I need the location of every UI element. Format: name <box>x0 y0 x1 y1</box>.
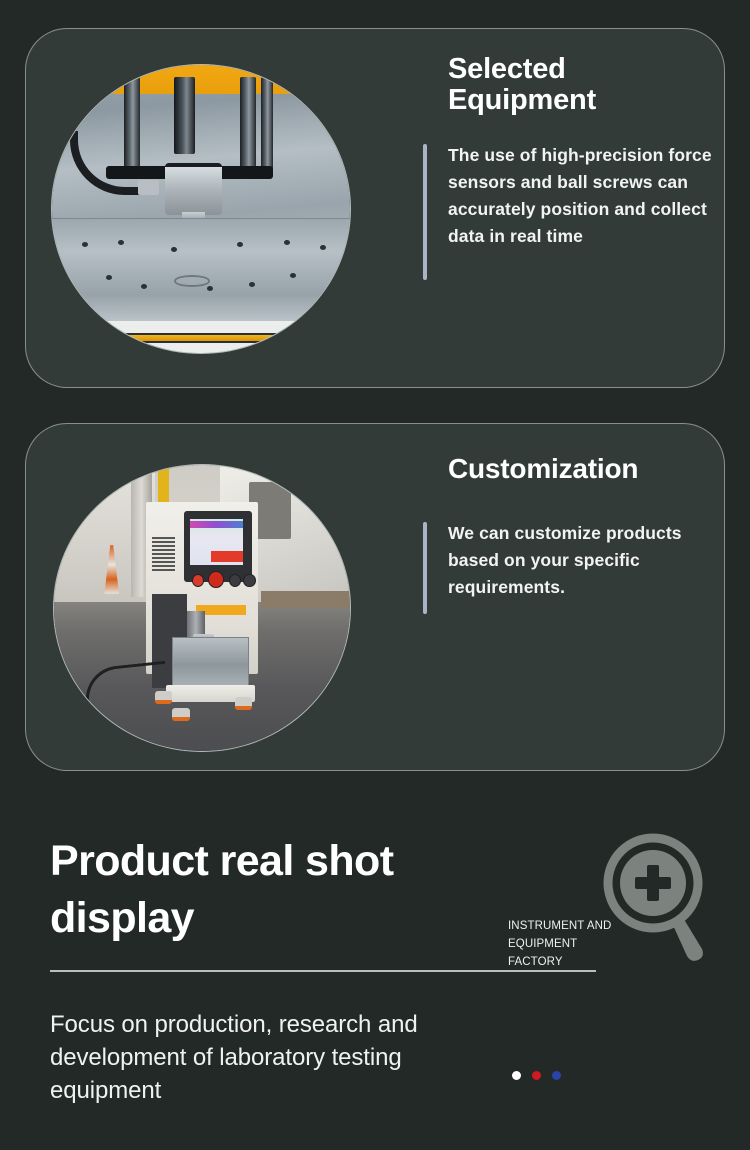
press-hose <box>70 131 147 194</box>
accent-bar <box>423 144 427 280</box>
card-body-text: We can customize products based on your … <box>448 520 723 601</box>
panel-button-red <box>192 574 204 587</box>
card-body-wrap: The use of high-precision force sensors … <box>423 142 713 251</box>
card-body-wrap: We can customize products based on your … <box>423 520 723 601</box>
press-column <box>261 77 273 175</box>
page-root: Selected Equipment The use of high-preci… <box>0 0 750 1150</box>
carousel-dot-1[interactable] <box>512 1071 521 1080</box>
divider <box>50 970 596 972</box>
pallet <box>261 591 350 608</box>
factory-logo: INSTRUMENT AND EQUIPMENT FACTORY <box>498 824 728 974</box>
card-image-press-machine <box>51 64 351 354</box>
press-column <box>240 77 256 175</box>
logo-caption: INSTRUMENT AND EQUIPMENT FACTORY <box>508 918 611 971</box>
card-text-block: Selected Equipment The use of high-preci… <box>423 54 713 251</box>
machine-vent <box>152 537 176 571</box>
touchscreen-title-bar <box>190 521 243 528</box>
press-column <box>174 77 195 155</box>
test-fixture <box>172 637 249 688</box>
leveling-foot <box>235 697 253 710</box>
bottom-section: Product real shot display INSTRUMENT AND… <box>0 800 750 1150</box>
press-machine-photo <box>52 65 350 353</box>
press-table <box>52 218 350 327</box>
magnifier-plus-icon <box>596 833 716 963</box>
carousel-dots[interactable] <box>512 1071 561 1080</box>
carousel-dot-2[interactable] <box>532 1071 541 1080</box>
press-base-strip <box>100 333 285 343</box>
card-title: Customization <box>423 454 723 484</box>
card-text-block: Customization We can customize products … <box>423 454 723 601</box>
card-inner: Selected Equipment The use of high-preci… <box>26 29 724 387</box>
card-title: Selected Equipment <box>423 54 713 116</box>
press-bore <box>174 275 210 287</box>
press-hose-connector <box>138 180 159 194</box>
feature-card-selected-equipment[interactable]: Selected Equipment The use of high-preci… <box>25 28 725 388</box>
card-image-control-panel <box>53 464 351 752</box>
press-cylinder <box>165 163 222 215</box>
panel-knob-down <box>243 574 255 587</box>
section-subtitle: Focus on production, research and develo… <box>50 1008 490 1107</box>
factory-floor-photo <box>54 465 350 751</box>
leveling-foot <box>172 708 190 721</box>
panel-knob-up <box>229 574 241 587</box>
carousel-dot-3[interactable] <box>552 1071 561 1080</box>
accent-bar <box>423 522 427 614</box>
card-body-text: The use of high-precision force sensors … <box>448 142 713 251</box>
section-title: Product real shot display <box>50 833 480 947</box>
card-inner: Customization We can customize products … <box>26 424 724 770</box>
touchscreen-alert-band <box>211 551 244 562</box>
feature-card-customization[interactable]: Customization We can customize products … <box>25 423 725 771</box>
